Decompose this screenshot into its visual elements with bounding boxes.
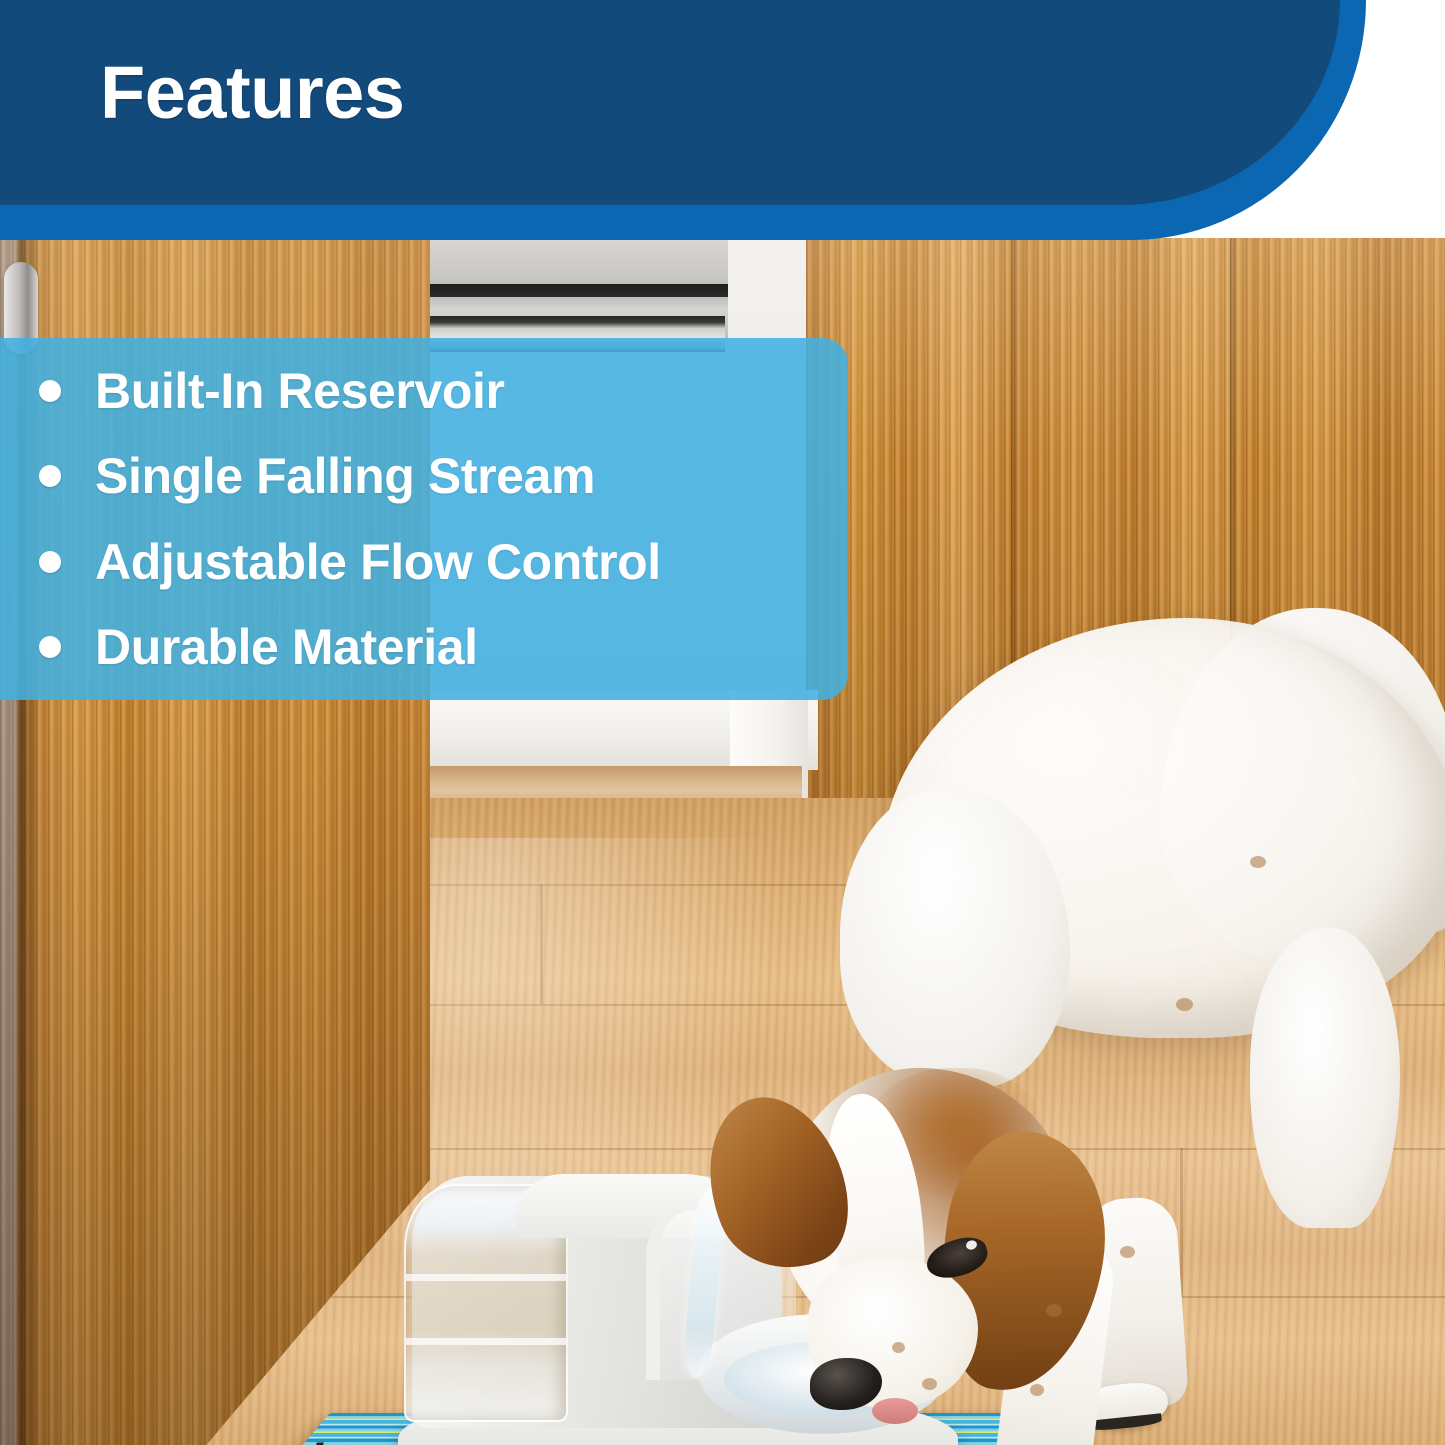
feature-item: Single Falling Stream — [0, 434, 848, 520]
dog-spot — [1176, 998, 1193, 1011]
feature-item: Built-In Reservoir — [0, 348, 848, 434]
bullet-dot-icon — [39, 465, 61, 487]
feature-item: Adjustable Flow Control — [0, 519, 848, 605]
dog — [690, 598, 1445, 1445]
feature-label: Single Falling Stream — [95, 451, 595, 501]
feature-label: Adjustable Flow Control — [95, 537, 661, 587]
feature-label: Built-In Reservoir — [95, 366, 505, 416]
dog-spot — [1030, 1384, 1044, 1396]
feature-label: Durable Material — [95, 622, 478, 672]
reservoir-rib — [406, 1274, 566, 1281]
features-list-panel: Built-In Reservoir Single Falling Stream… — [0, 338, 848, 700]
dog-hind-leg — [1250, 928, 1400, 1228]
page-title: Features — [100, 56, 404, 130]
dog-spot — [1250, 856, 1266, 868]
bullet-dot-icon — [39, 380, 61, 402]
dog-spot — [892, 1342, 905, 1353]
dog-spot — [922, 1378, 937, 1390]
feature-item: Durable Material — [0, 605, 848, 691]
dog-spot — [1046, 1304, 1062, 1317]
dog-spot — [1120, 1246, 1135, 1258]
bullet-dot-icon — [39, 636, 61, 658]
product-feature-graphic: Features Built-In Reservoir Single Falli… — [0, 0, 1445, 1445]
dog-tongue — [872, 1398, 918, 1424]
bullet-dot-icon — [39, 551, 61, 573]
reservoir-rib — [406, 1338, 566, 1345]
